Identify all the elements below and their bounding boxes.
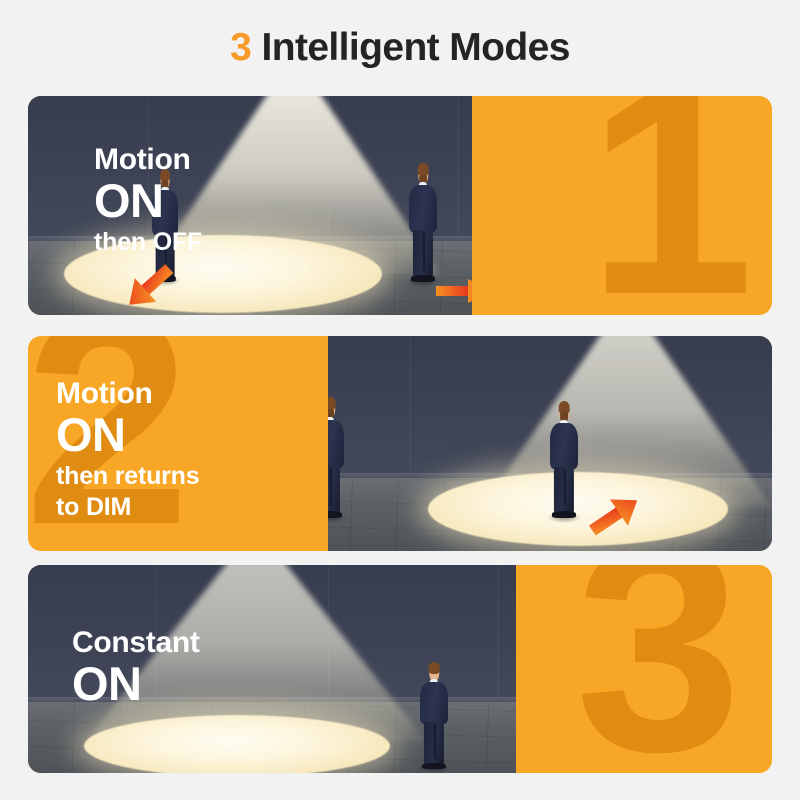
- scene-photo-2: [260, 336, 772, 551]
- mode-copy-1: Motion ON then OFF: [94, 144, 202, 256]
- page-title-text: Intelligent Modes: [262, 26, 570, 69]
- mode-3-line-2: ON: [72, 660, 200, 708]
- motion-arrow-enter-2: [582, 494, 646, 538]
- mode-1-line-2: ON: [94, 177, 202, 225]
- mode-3-line-1: Constant: [72, 627, 200, 659]
- ghost-numeral-3: 3: [575, 565, 742, 763]
- page-title-number: 3: [230, 26, 251, 69]
- person-outside-light-3: [420, 663, 448, 769]
- label-block-1: 1: [472, 96, 772, 315]
- mode-2-line-2: ON: [56, 411, 199, 459]
- mode-2-line-4: to DIM: [56, 493, 199, 521]
- motion-arrow-enter-1: [118, 264, 182, 308]
- mode-1-line-1: Motion: [94, 144, 202, 176]
- ghost-numeral-1: 1: [587, 96, 754, 306]
- mode-2-line-3: then returns: [56, 462, 199, 490]
- spotlight-pool-3: [84, 715, 390, 773]
- mode-copy-3: Constant ON: [72, 627, 200, 708]
- mode-panel-1[interactable]: 1 Motion ON then OFF: [28, 96, 772, 315]
- page-title: 3 Intelligent Modes: [0, 28, 800, 67]
- mode-copy-2: Motion ON then returns to DIM: [56, 378, 199, 521]
- person-outside-light-1: [409, 164, 437, 282]
- spotlight-pool-2: [428, 472, 728, 546]
- mode-panel-2[interactable]: 2 Motion ON then returns to DIM: [28, 336, 772, 551]
- mode-2-line-1: Motion: [56, 378, 199, 410]
- mode-1-line-3: then OFF: [94, 228, 202, 256]
- mode-panel-3[interactable]: 3 Constant ON: [28, 565, 772, 773]
- label-block-3: 3: [516, 565, 772, 773]
- curve-divider-1: [472, 96, 584, 315]
- person-in-light-2: [550, 402, 578, 518]
- curve-divider-2: [216, 336, 328, 551]
